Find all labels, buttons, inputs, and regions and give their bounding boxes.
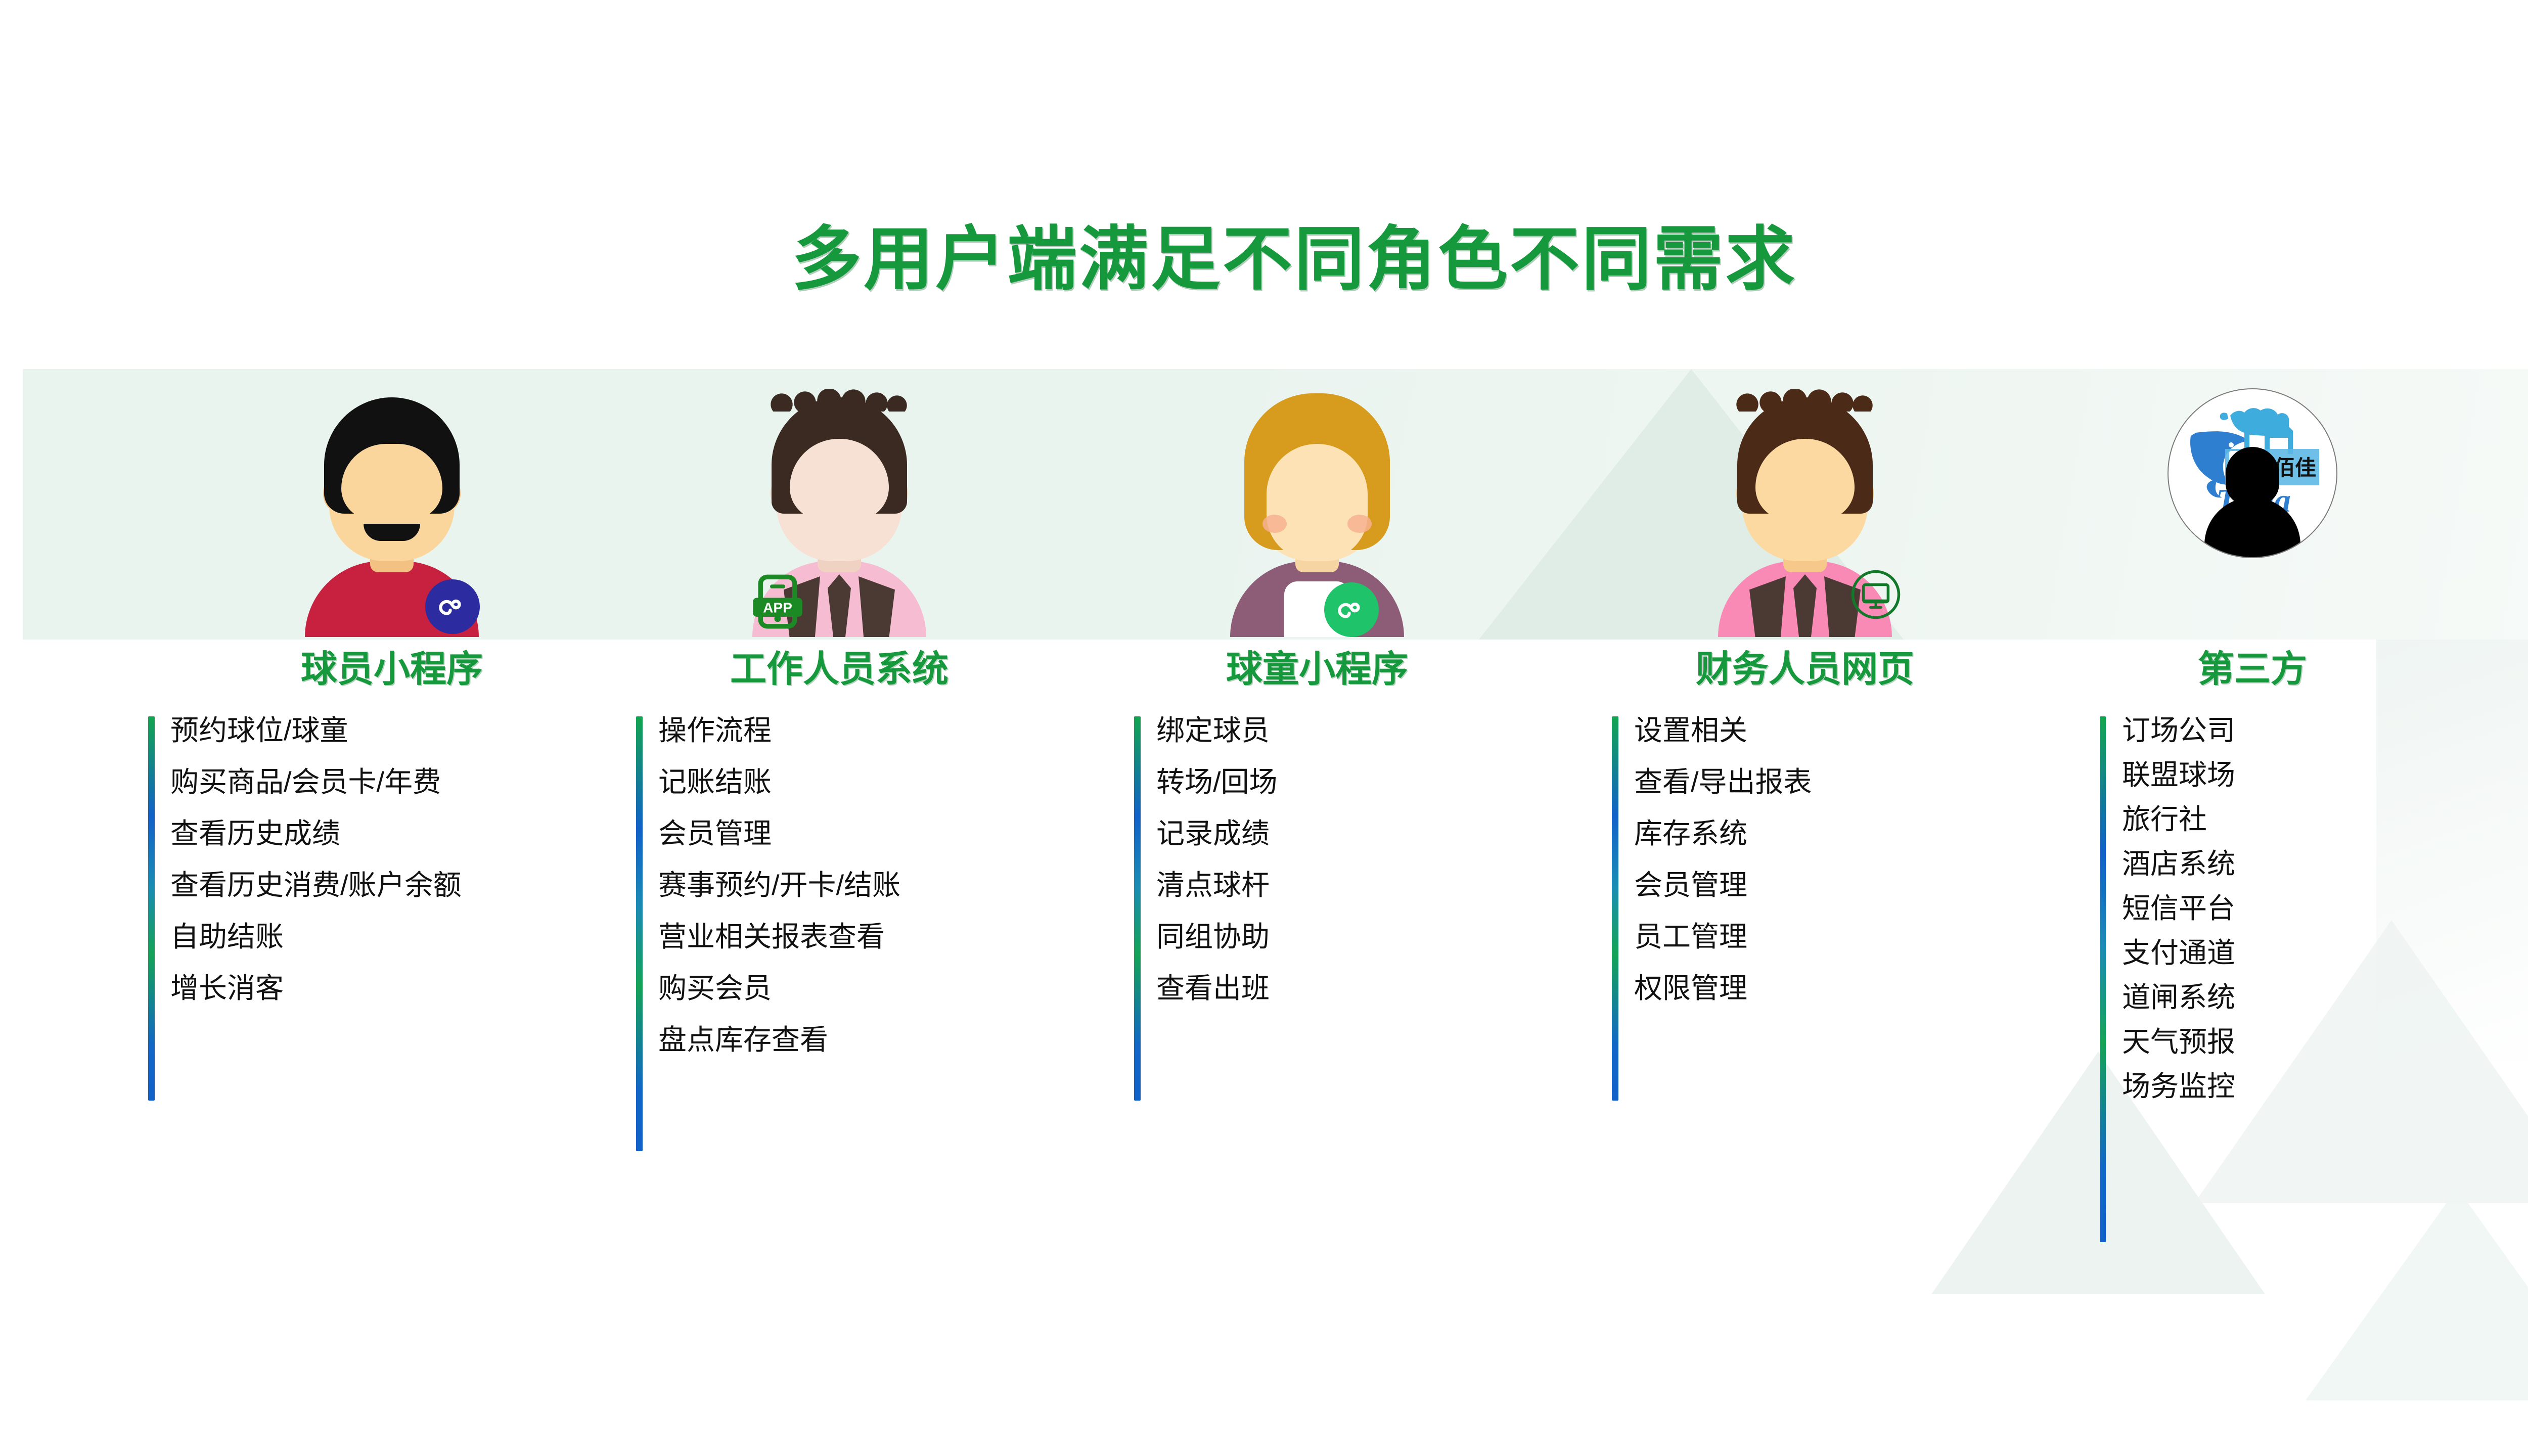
feature-list: 预约球位/球童 购买商品/会员卡/年费 查看历史成绩 查看历史消费/账户余额 自… [170,716,645,1003]
list-item: 支付通道 [2122,939,2414,967]
avatar-wrap [1603,374,2007,637]
list-item: 库存系统 [1634,820,2007,848]
list-item: 购买商品/会员卡/年费 [170,768,645,796]
app-phone-icon: APP [744,568,811,635]
list-item: 查看出班 [1156,974,1509,1003]
gradient-accent-bar [1134,716,1141,1101]
wechat-miniprogram-icon [425,579,480,634]
avatar-wrap: APP [627,374,1052,637]
role-column-finance-web[interactable]: 财务人员网页 设置相关 查看/导出报表 库存系统 会员管理 员工管理 权限管理 [1603,374,2007,1026]
role-label: 第三方 [2091,639,2414,692]
logo-circle: G 佰佳 Tema [2168,388,2337,558]
avatar [1714,379,1896,637]
list-item: 查看/导出报表 [1634,768,2007,796]
gradient-accent-bar [1612,716,1618,1101]
feature-list: 绑定球员 转场/回场 记录成绩 清点球杆 同组协助 查看出班 [1156,716,1509,1003]
feature-block: 预约球位/球童 购买商品/会员卡/年费 查看历史成绩 查看历史消费/账户余额 自… [139,716,645,1003]
avatar-hair [772,397,907,514]
list-item: 营业相关报表查看 [658,923,1052,951]
list-item: 旅行社 [2122,805,2414,834]
role-label: 工作人员系统 [627,639,1052,692]
avatar-wrap: G 佰佳 Tema [2091,374,2414,637]
list-item: 清点球杆 [1156,871,1509,899]
avatar-wrap [139,374,645,637]
list-item: 记录成绩 [1156,820,1509,848]
role-column-caddie-miniprogram[interactable]: 球童小程序 绑定球员 转场/回场 记录成绩 清点球杆 同组协助 查看出班 [1125,374,1509,1026]
list-item: 赛事预约/开卡/结账 [658,871,1052,899]
role-label: 财务人员网页 [1603,639,2007,692]
list-item: 权限管理 [1634,974,2007,1003]
gradient-accent-bar [2100,716,2106,1242]
feature-list: 订场公司 联盟球场 旅行社 酒店系统 短信平台 支付通道 道闸系统 天气预报 场… [2122,716,2414,1101]
list-item: 预约球位/球童 [170,716,645,745]
feature-list: 操作流程 记账结账 会员管理 赛事预约/开卡/结账 营业相关报表查看 购买会员 … [658,716,1052,1054]
list-item: 查看历史消费/账户余额 [170,871,645,899]
role-column-third-party[interactable]: G 佰佳 Tema 第三方 订场公司 联盟球场 旅行社 酒店系统 短信平台 [2091,374,2414,1117]
avatar-hair [1737,397,1873,514]
avatar-hair [324,397,460,514]
feature-list: 设置相关 查看/导出报表 库存系统 会员管理 员工管理 权限管理 [1634,716,2007,1003]
avatar [301,379,483,637]
feature-block: 绑定球员 转场/回场 记录成绩 清点球杆 同组协助 查看出班 [1125,716,1509,1003]
list-item: 场务监控 [2122,1072,2414,1101]
list-item: 查看历史成绩 [170,820,645,848]
list-item: 联盟球场 [2122,761,2414,789]
avatar-cheek [1262,515,1287,533]
role-column-staff-system[interactable]: APP 工作人员系统 操作流程 记账结账 会员管理 赛事预约/开卡/结账 营业相… [627,374,1052,1077]
list-item: 员工管理 [1634,923,2007,951]
avatar-mustache [364,524,420,541]
list-item: 自助结账 [170,923,645,951]
feature-block: 设置相关 查看/导出报表 库存系统 会员管理 员工管理 权限管理 [1603,716,2007,1003]
avatar-wrap [1125,374,1509,637]
gradient-accent-bar [636,716,643,1151]
list-item: 短信平台 [2122,894,2414,923]
list-item: 会员管理 [658,820,1052,848]
list-item: 设置相关 [1634,716,2007,745]
avatar-cheek [1347,515,1372,533]
gradient-accent-bar [148,716,155,1101]
role-label: 球童小程序 [1125,639,1509,692]
feature-block: 订场公司 联盟球场 旅行社 酒店系统 短信平台 支付通道 道闸系统 天气预报 场… [2091,716,2414,1101]
person-silhouette-icon [2204,447,2300,558]
list-item: 天气预报 [2122,1028,2414,1056]
role-columns: 球员小程序 预约球位/球童 购买商品/会员卡/年费 查看历史成绩 查看历史消费/… [0,0,2528,1456]
list-item: 购买会员 [658,974,1052,1003]
list-item: 记账结账 [658,768,1052,796]
list-item: 转场/回场 [1156,768,1509,796]
list-item: 同组协助 [1156,923,1509,951]
svg-text:APP: APP [763,600,792,616]
list-item: 绑定球员 [1156,716,1509,745]
role-label: 球员小程序 [139,639,645,692]
wechat-miniprogram-icon [1324,582,1379,637]
list-item: 酒店系统 [2122,850,2414,878]
list-item: 道闸系统 [2122,983,2414,1012]
list-item: 盘点库存查看 [658,1026,1052,1054]
role-column-player-miniprogram[interactable]: 球员小程序 预约球位/球童 购买商品/会员卡/年费 查看历史成绩 查看历史消费/… [139,374,645,1026]
feature-block: 操作流程 记账结账 会员管理 赛事预约/开卡/结账 营业相关报表查看 购买会员 … [627,716,1052,1054]
avatar [1226,379,1408,637]
desktop-monitor-icon [1848,567,1903,622]
avatar: APP [748,379,930,637]
list-item: 操作流程 [658,716,1052,745]
list-item: 增长消客 [170,974,645,1003]
company-logo-badge: G 佰佳 Tema [2161,379,2343,637]
list-item: 会员管理 [1634,871,2007,899]
list-item: 订场公司 [2122,716,2414,745]
